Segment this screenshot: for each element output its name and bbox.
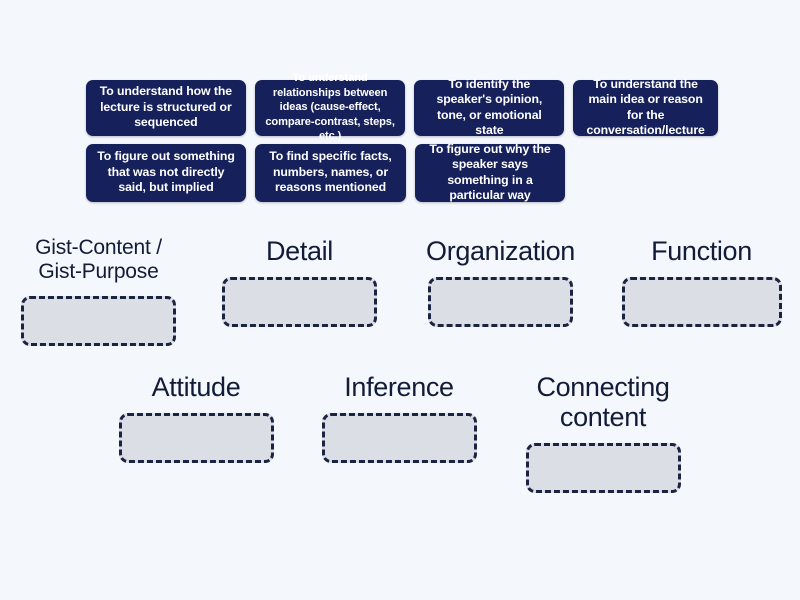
draggable-cards-tray: To understand how the lecture is structu…	[86, 80, 718, 210]
draggable-card-function-clue[interactable]: To figure out why the speaker says somet…	[415, 144, 565, 202]
dropzone-organization[interactable]	[428, 277, 573, 327]
dropzone-detail[interactable]	[222, 277, 377, 327]
draggable-card-gist-clue[interactable]: To understand the main idea or reason fo…	[573, 80, 718, 136]
dropzone-gist-content-gist-purpose[interactable]	[21, 296, 176, 346]
groups-row-1: Gist-Content / Gist-Purpose Detail Organ…	[0, 236, 800, 346]
draggable-card-inference-clue[interactable]: To figure out something that was not dir…	[86, 144, 246, 202]
dropzone-attitude[interactable]	[119, 413, 274, 463]
group-organization: Organization	[411, 236, 591, 327]
draggable-card-attitude-clue[interactable]: To identify the speaker's opinion, tone,…	[414, 80, 564, 136]
dropzone-inference[interactable]	[322, 413, 477, 463]
draggable-card-detail-clue[interactable]: To find specific facts, numbers, names, …	[255, 144, 406, 202]
groups-row-2: Attitude Inference Connecting content	[0, 372, 800, 493]
group-label-detail: Detail	[266, 236, 333, 266]
group-function: Function	[612, 236, 792, 327]
group-label-attitude: Attitude	[152, 372, 241, 402]
category-groups: Gist-Content / Gist-Purpose Detail Organ…	[0, 236, 800, 493]
dropzone-function[interactable]	[622, 277, 782, 327]
group-label-inference: Inference	[344, 372, 453, 402]
group-label-gist-content-gist-purpose: Gist-Content / Gist-Purpose	[35, 236, 162, 285]
group-connecting-content: Connecting content	[512, 372, 694, 493]
group-gist-content-gist-purpose: Gist-Content / Gist-Purpose	[9, 236, 189, 346]
cards-row-1: To understand how the lecture is structu…	[86, 80, 718, 136]
cards-row-2: To figure out something that was not dir…	[86, 144, 718, 202]
group-detail: Detail	[210, 236, 390, 327]
group-label-organization: Organization	[426, 236, 575, 266]
group-inference: Inference	[309, 372, 489, 463]
draggable-card-connecting-content-clue[interactable]: To understand relationships between idea…	[255, 80, 406, 136]
dropzone-connecting-content[interactable]	[526, 443, 681, 493]
group-label-function: Function	[651, 236, 752, 266]
group-attitude: Attitude	[106, 372, 286, 463]
draggable-card-organization-clue[interactable]: To understand how the lecture is structu…	[86, 80, 246, 136]
activity-canvas: To understand how the lecture is structu…	[0, 0, 800, 600]
group-label-connecting-content: Connecting content	[536, 372, 669, 432]
